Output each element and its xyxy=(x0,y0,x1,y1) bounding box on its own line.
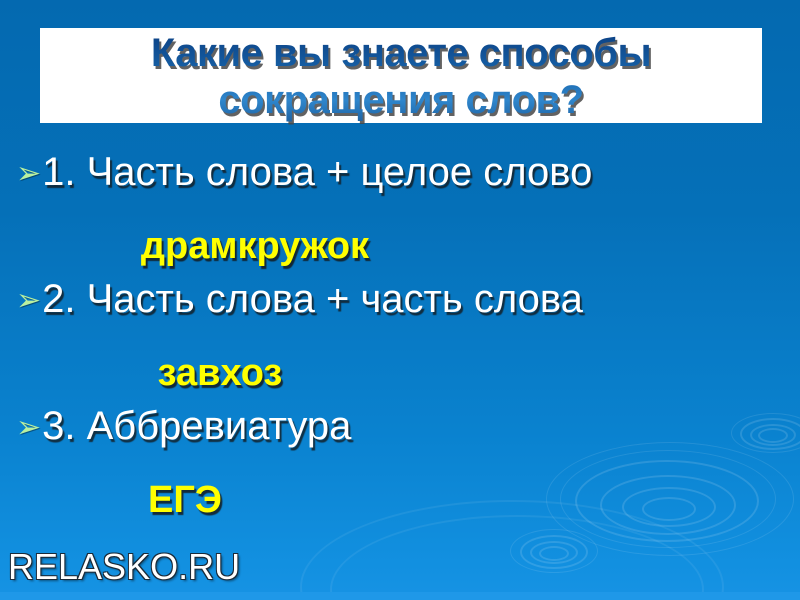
list-item: ➢ 3. Аббревиатура xyxy=(0,404,800,469)
ripple-ring xyxy=(520,535,588,569)
example-word: ЕГЭ xyxy=(0,469,800,531)
ripple-ring xyxy=(539,546,569,561)
watermark-label: RELASKO.RU xyxy=(8,546,240,588)
bottom-accent-strip xyxy=(0,592,800,600)
arrow-bullet-icon: ➢ xyxy=(16,159,41,189)
list-item-label: 1. Часть слова + целое слово xyxy=(42,150,592,195)
example-word: драмкружок xyxy=(0,215,800,277)
list-item: ➢ 2. Часть слова + часть слова xyxy=(0,277,800,342)
slide-body: ➢ 1. Часть слова + целое слово драмкружо… xyxy=(0,150,800,531)
arrow-bullet-icon: ➢ xyxy=(16,413,41,443)
presentation-slide: Какие вы знаете способы сокращения слов?… xyxy=(0,0,800,600)
list-item: ➢ 1. Часть слова + целое слово xyxy=(0,150,800,215)
ripple-ring xyxy=(510,529,598,573)
ripple-ring xyxy=(530,541,578,564)
list-item-label: 2. Часть слова + часть слова xyxy=(42,277,583,322)
arrow-bullet-icon: ➢ xyxy=(16,286,41,316)
list-item-label: 3. Аббревиатура xyxy=(42,404,351,449)
example-word: завхоз xyxy=(0,342,800,404)
slide-title: Какие вы знаете способы сокращения слов? xyxy=(40,30,762,124)
